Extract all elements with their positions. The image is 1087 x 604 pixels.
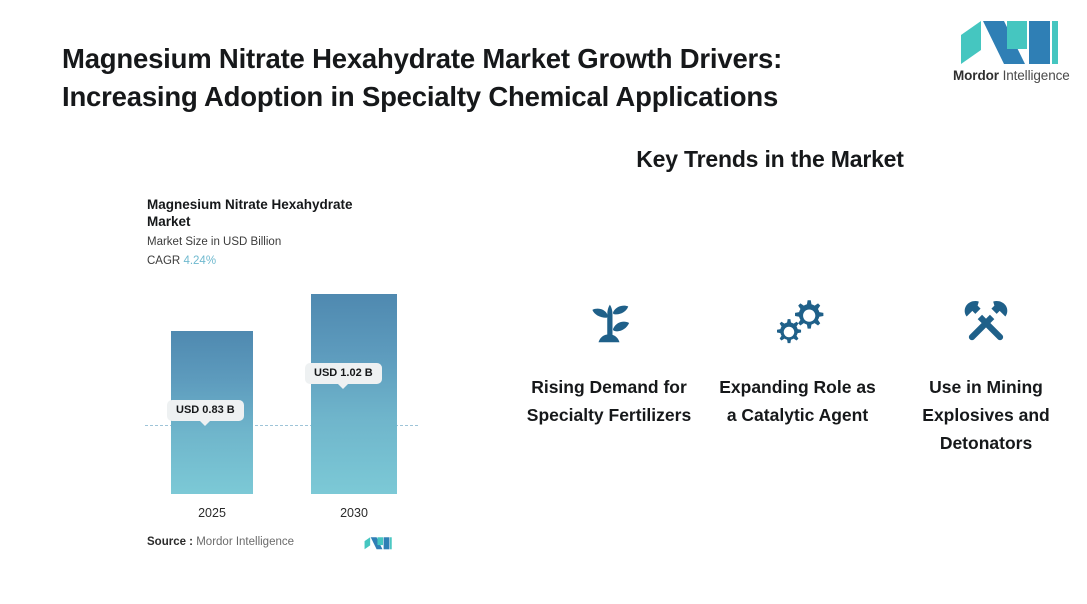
trend-label-catalytic: Expanding Role as a Catalytic Agent [714,373,882,429]
axis-label-2030: 2030 [311,506,397,520]
bar-2030 [311,294,397,494]
axis-label-2025: 2025 [171,506,253,520]
chart-title: Magnesium Nitrate Hexahydrate Market [147,196,387,230]
brand-wordmark: Mordor Intelligence [953,68,1065,83]
crossed-hammers-mining-icon [958,295,1014,351]
trend-item-catalytic: Expanding Role as a Catalytic Agent [714,295,882,429]
brand-logo: Mordor Intelligence [953,18,1065,83]
mordor-intelligence-mark-icon [364,535,392,551]
seedling-plant-icon [581,295,637,351]
source-row: Source : Mordor Intelligence [147,536,427,556]
chart-plot-area: USD 0.83 B USD 1.02 B 2025 2030 [145,280,430,520]
brand-word-intelligence: Intelligence [1003,68,1070,83]
brand-word-mordor: Mordor [953,68,999,83]
trends-heading: Key Trends in the Market [470,146,1070,173]
gears-icon [770,295,826,351]
cagr-label: CAGR [147,255,180,267]
value-badge-2025: USD 0.83 B [167,400,244,421]
trends-row: Rising Demand for Specialty Fertilizers … [525,295,1070,457]
chart-subtitle: Market Size in USD Billion [147,236,281,248]
mordor-intelligence-logo-icon [959,18,1059,65]
source-value: Mordor Intelligence [196,536,294,548]
page-title-line-2: Increasing Adoption in Specialty Chemica… [62,78,872,116]
value-badge-2030: USD 1.02 B [305,363,382,384]
page-title: Magnesium Nitrate Hexahydrate Market Gro… [62,40,872,116]
trend-item-mining: Use in Mining Explosives and Detonators [902,295,1070,457]
market-size-chart: Magnesium Nitrate Hexahydrate Market Mar… [0,180,470,580]
chart-cagr: CAGR 4.24% [147,255,216,267]
trend-item-fertilizers: Rising Demand for Specialty Fertilizers [525,295,693,429]
trend-label-mining: Use in Mining Explosives and Detonators [902,373,1070,457]
source-label: Source : [147,536,193,548]
cagr-value: 4.24% [183,255,216,267]
trend-label-fertilizers: Rising Demand for Specialty Fertilizers [525,373,693,429]
page-title-line-1: Magnesium Nitrate Hexahydrate Market Gro… [62,40,872,78]
